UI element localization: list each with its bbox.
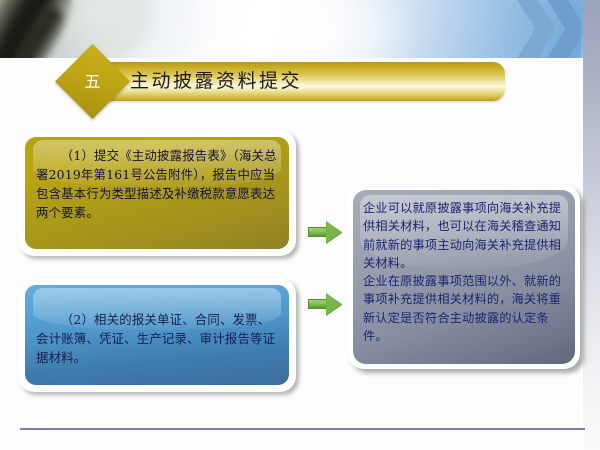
footer-divider: [20, 428, 585, 430]
slide-canvas: 主动披露资料提交 五 （1）提交《主动披露报告表》（海关总署2019年第161号…: [0, 0, 600, 450]
section-number-label: 五: [66, 55, 119, 108]
page-title: 主动披露资料提交: [130, 62, 500, 101]
content-box-item-two: （2）相关的报关单证、合同、发票、会计账簿、凭证、生产记录、审计报告等证据材料。: [18, 278, 296, 392]
arrow-head: [326, 221, 342, 243]
content-box-item-two-fill: （2）相关的报关单证、合同、发票、会计账簿、凭证、生产记录、审计报告等证据材料。: [25, 285, 289, 385]
content-box-item-one-fill: （1）提交《主动披露报告表》（海关总署2019年第161号公告附件），报告中应当…: [25, 137, 289, 249]
content-box-item-one: （1）提交《主动披露报告表》（海关总署2019年第161号公告附件），报告中应当…: [18, 130, 296, 256]
explanation-panel-fill: 企业可以就原披露事项向海关补充提供相关材料，也可以在海关稽查通知前就新的事项主动…: [353, 190, 575, 364]
green-right-arrow-icon-1: [308, 221, 342, 243]
arrow-shaft: [308, 299, 328, 309]
explanation-panel: 企业可以就原披露事项向海关补充提供相关材料，也可以在海关稽查通知前就新的事项主动…: [348, 185, 580, 369]
right-side-strip: [583, 0, 600, 450]
arrow-shaft: [308, 227, 328, 237]
content-box-item-one-text: （1）提交《主动披露报告表》（海关总署2019年第161号公告附件），报告中应当…: [25, 137, 289, 230]
explanation-paragraph-1: 企业可以就原披露事项向海关补充提供相关材料，也可以在海关稽查通知前就新的事项主动…: [363, 199, 565, 272]
arrow-head: [326, 293, 342, 315]
green-right-arrow-icon-2: [308, 293, 342, 315]
explanation-panel-text: 企业可以就原披露事项向海关补充提供相关材料，也可以在海关稽查通知前就新的事项主动…: [353, 190, 575, 351]
content-box-item-two-text: （2）相关的报关单证、合同、发票、会计账簿、凭证、生产记录、审计报告等证据材料。: [25, 285, 289, 376]
explanation-paragraph-2: 企业在原披露事项范围以外、就新的事项补充提供相关材料的，海关将重新认定是否符合主…: [363, 272, 565, 345]
